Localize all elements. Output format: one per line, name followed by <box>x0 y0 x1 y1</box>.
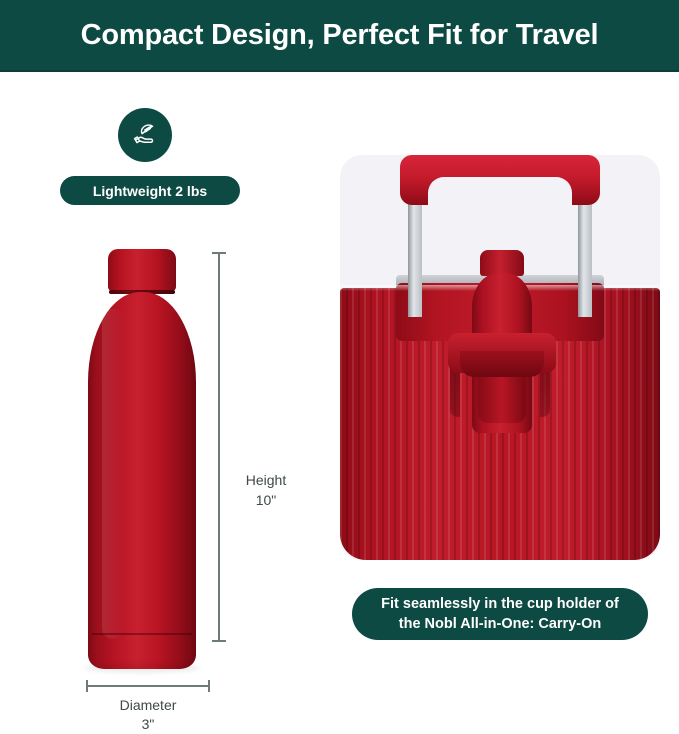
cup-holder-lip <box>460 351 544 377</box>
diameter-dimension-cap-right <box>208 680 210 692</box>
bottle-base-seam <box>92 633 192 635</box>
height-label-text: Height <box>226 470 306 490</box>
height-value-text: 10" <box>226 490 306 510</box>
lightweight-badge-label: Lightweight 2 lbs <box>93 183 207 199</box>
diameter-value-text: 3" <box>78 715 218 734</box>
handle-pole-right <box>578 199 592 317</box>
height-dimension-cap-bottom <box>212 640 226 642</box>
bottle-in-holder-base <box>478 369 526 423</box>
page-title: Compact Design, Perfect Fit for Travel <box>81 19 599 52</box>
handle-grip-cutout <box>428 177 572 219</box>
lightweight-badge: Lightweight 2 lbs <box>60 176 240 205</box>
diameter-dimension-cap-left <box>86 680 88 692</box>
bottle-shadow <box>84 663 200 673</box>
diameter-dimension-line <box>86 685 210 687</box>
diameter-dimension-label: Diameter 3" <box>78 696 218 734</box>
caption-line-1: Fit seamlessly in the cup holder of <box>381 594 619 614</box>
left-panel: Lightweight 2 lbs Height 10" Diameter 3" <box>0 74 320 655</box>
diameter-label-text: Diameter <box>78 696 218 715</box>
height-dimension-label: Height 10" <box>226 470 306 510</box>
height-dimension-line <box>218 252 220 642</box>
height-dimension-cap-top <box>212 252 226 254</box>
bottle-cap <box>108 249 176 291</box>
hand-holding-feather-icon <box>118 108 172 162</box>
header-banner: Compact Design, Perfect Fit for Travel <box>0 0 679 72</box>
water-bottle-illustration <box>82 249 202 669</box>
caption-badge: Fit seamlessly in the cup holder of the … <box>352 588 648 640</box>
bottle-highlight <box>102 309 124 639</box>
suitcase-photo-panel <box>340 155 660 560</box>
handle-pole-left <box>408 199 422 317</box>
caption-line-2: the Nobl All-in-One: Carry-On <box>399 614 601 634</box>
